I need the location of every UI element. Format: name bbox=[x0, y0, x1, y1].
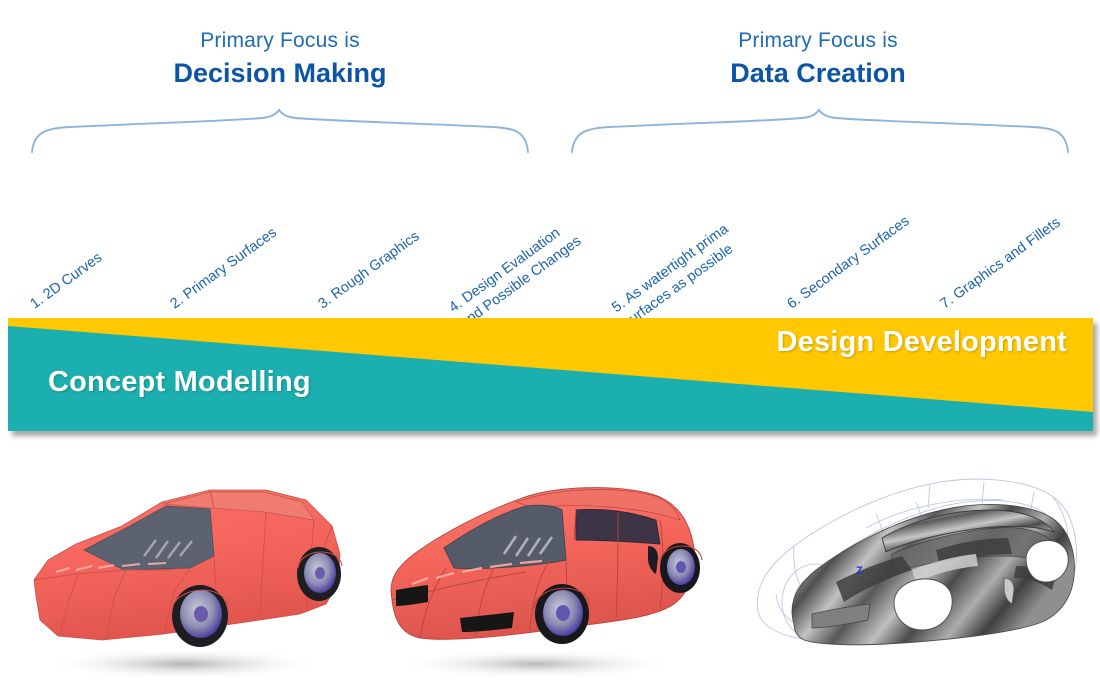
axis-label-z: Z bbox=[856, 565, 863, 577]
car-rear-wheel-arch bbox=[1026, 540, 1068, 582]
step-label-5: 5. As watertight prima surfaces as possi… bbox=[609, 220, 744, 333]
phase-prefix: Primary Focus is bbox=[633, 28, 1003, 54]
phase-banner: Concept Modelling Design Development bbox=[8, 318, 1093, 431]
banner-label-design-development: Design Development bbox=[777, 326, 1067, 359]
brace-left-icon bbox=[32, 110, 528, 152]
car-front-wheel bbox=[535, 584, 589, 644]
phase-title: Data Creation bbox=[633, 56, 1003, 90]
phase-header-decision-making: Primary Focus is Decision Making bbox=[95, 28, 465, 90]
phase-prefix: Primary Focus is bbox=[95, 28, 465, 54]
step-label-6: 6. Secondary Surfaces bbox=[784, 212, 914, 314]
phase-header-data-creation: Primary Focus is Data Creation bbox=[633, 28, 1003, 90]
car-shadow bbox=[42, 648, 326, 680]
car-windshield bbox=[444, 505, 566, 568]
car-rear-wheel bbox=[660, 543, 700, 593]
diagram-canvas: Primary Focus is Decision Making Primary… bbox=[0, 0, 1100, 700]
car-render-concept-model bbox=[14, 468, 354, 688]
step-label-3: 3. Rough Graphics bbox=[315, 228, 424, 314]
step-label-7: 7. Graphics and Fillets bbox=[937, 214, 1065, 314]
car-front-wheel-arch bbox=[894, 579, 952, 630]
step-label-1: 1. 2D Curves bbox=[27, 249, 107, 314]
step-label-2: 2. Primary Surfaces bbox=[167, 224, 281, 314]
banner-label-concept-modelling: Concept Modelling bbox=[48, 366, 311, 399]
brace-right-icon bbox=[572, 110, 1068, 152]
phase-title: Decision Making bbox=[95, 56, 465, 90]
step-label-4: 4. Design Evaluation and Possible Change… bbox=[446, 217, 586, 333]
car-render-surface-analysis: Z bbox=[716, 462, 1086, 688]
car-render-refined-model bbox=[366, 468, 706, 688]
car-shadow bbox=[394, 649, 678, 679]
